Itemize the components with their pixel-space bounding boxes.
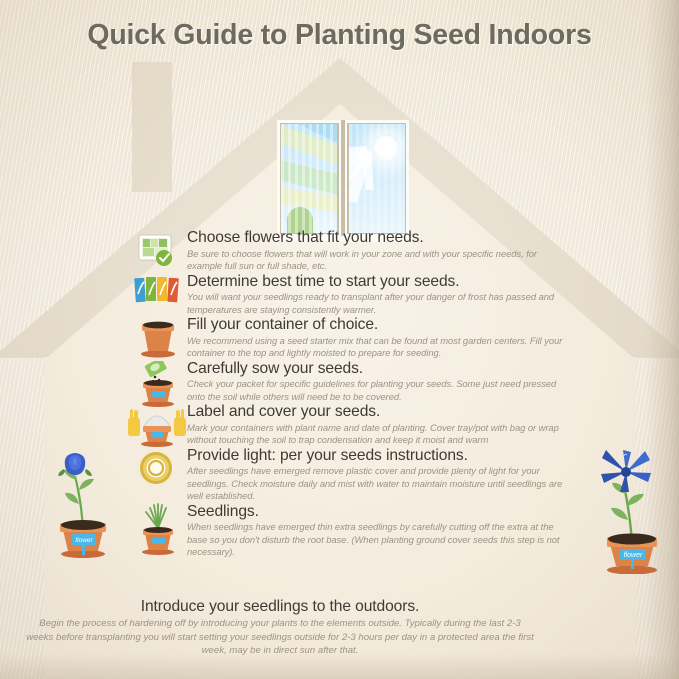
step-title: Seedlings. [187, 504, 572, 521]
window-mullion [339, 120, 347, 237]
step-text: Seedlings. When seedlings have emerged t… [187, 504, 572, 559]
footer-desc: Begin the process of hardening off by in… [0, 617, 560, 658]
step-desc: We recommend using a seed starter mix th… [187, 335, 572, 360]
infographic-poster: Quick Guide to Planting Seed Indoors [0, 0, 679, 679]
seed-catalog-icon [132, 230, 184, 276]
step-item: Fill your container of choice. We recomm… [132, 317, 572, 360]
step-item: Determine best time to start your seeds.… [132, 274, 572, 317]
blue-lily-pot: flower [592, 424, 672, 579]
gloves-covered-pot-icon [126, 404, 188, 450]
step-title: Determine best time to start your seeds. [187, 274, 572, 291]
filled-pot-icon [132, 317, 184, 363]
step-text: Label and cover your seeds. Mark your co… [187, 404, 572, 447]
window-pane-right [349, 124, 405, 233]
window-blind-left [281, 124, 337, 233]
step-item: Label and cover your seeds. Mark your co… [132, 404, 572, 447]
step-item: Choose flowers that fit your needs. Be s… [132, 230, 572, 273]
window-blind-right [349, 124, 405, 233]
blue-rose-pot: flower [48, 418, 118, 563]
seed-packets-icon [132, 274, 184, 320]
step-item: Provide light: per your seeds instructio… [132, 448, 572, 503]
footer-section: Introduce your seedlings to the outdoors… [0, 598, 560, 658]
step-text: Determine best time to start your seeds.… [187, 274, 572, 317]
steps-list: Choose flowers that fit your needs. Be s… [132, 230, 572, 560]
step-text: Provide light: per your seeds instructio… [187, 448, 572, 503]
step-title: Carefully sow your seeds. [187, 361, 572, 378]
window-pane-left [281, 124, 337, 233]
step-desc: After seedlings have emerged remove plas… [187, 465, 572, 503]
step-text: Carefully sow your seeds. Check your pac… [187, 361, 572, 404]
step-item: Carefully sow your seeds. Check your pac… [132, 361, 572, 404]
step-desc: Check your packet for specific guideline… [187, 378, 572, 403]
step-title: Label and cover your seeds. [187, 404, 572, 421]
step-item: Seedlings. When seedlings have emerged t… [132, 504, 572, 559]
step-desc: Be sure to choose flowers that will work… [187, 248, 572, 273]
sun-light-icon [132, 448, 184, 494]
window-with-sunlight [277, 120, 409, 237]
step-desc: Mark your containers with plant name and… [187, 422, 572, 447]
sowing-seeds-icon [132, 361, 184, 407]
step-title: Fill your container of choice. [187, 317, 572, 334]
footer-title: Introduce your seedlings to the outdoors… [0, 598, 560, 615]
step-desc: You will want your seedlings ready to tr… [187, 291, 572, 316]
step-text: Choose flowers that fit your needs. Be s… [187, 230, 572, 273]
step-text: Fill your container of choice. We recomm… [187, 317, 572, 360]
page-title: Quick Guide to Planting Seed Indoors [0, 19, 679, 52]
pot-label-text: flower [75, 537, 93, 544]
step-desc: When seedlings have emerged thin extra s… [187, 521, 572, 559]
step-title: Choose flowers that fit your needs. [187, 230, 572, 247]
pot-label-text: flower [624, 552, 643, 559]
seedlings-pot-icon [132, 500, 184, 556]
step-title: Provide light: per your seeds instructio… [187, 448, 572, 465]
